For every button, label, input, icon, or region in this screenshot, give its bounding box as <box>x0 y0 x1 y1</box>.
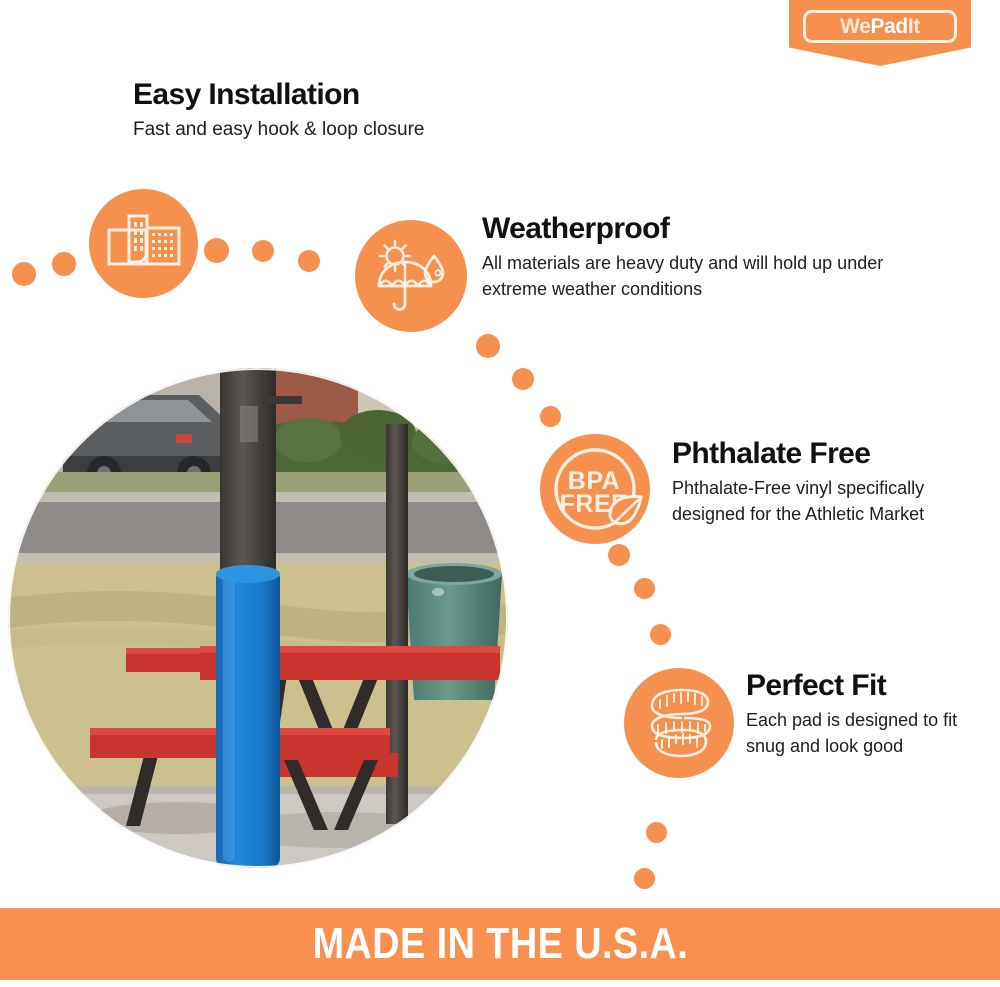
feature-title-perfect-fit: Perfect Fit <box>746 669 986 702</box>
path-dot <box>512 368 534 390</box>
umbrella-sun-rain-icon <box>371 238 451 314</box>
path-dot <box>476 334 500 358</box>
feature-title-weatherproof: Weatherproof <box>482 212 902 245</box>
path-dot <box>634 578 655 599</box>
path-dot <box>298 250 320 272</box>
icon-circle-easy-installation[interactable] <box>89 189 198 298</box>
logo-plate: WePadIt <box>803 10 957 43</box>
path-dot <box>608 544 630 566</box>
feature-body-weatherproof: All materials are heavy duty and will ho… <box>482 251 887 302</box>
bpa-free-leaf-icon: BPA FREE <box>545 439 645 539</box>
path-dot <box>204 238 229 263</box>
icon-circle-perfect-fit[interactable] <box>624 668 734 778</box>
path-dot <box>540 406 561 427</box>
feature-body-easy-installation: Fast and easy hook & loop closure <box>133 117 553 144</box>
feature-weatherproof: Weatherproof All materials are heavy dut… <box>482 212 902 302</box>
feature-easy-installation: Easy Installation Fast and easy hook & l… <box>133 78 553 144</box>
measuring-tape-icon <box>636 680 722 766</box>
product-feature-infographic: WePadIt Easy Installation Fast and easy … <box>0 0 1000 987</box>
product-photo <box>8 368 508 868</box>
logo-text-pad: Pad <box>870 15 907 38</box>
feature-body-phthalate-free: Phthalate-Free vinyl specifically design… <box>672 476 930 527</box>
feature-phthalate-free: Phthalate Free Phthalate-Free vinyl spec… <box>672 437 972 527</box>
path-dot <box>252 240 274 262</box>
feature-title-phthalate-free: Phthalate Free <box>672 437 972 470</box>
path-dot <box>650 624 671 645</box>
feature-body-perfect-fit: Each pad is designed to fit snug and loo… <box>746 708 970 759</box>
icon-circle-phthalate-free[interactable]: BPA FREE <box>540 434 650 544</box>
made-in-usa-text: MADE IN THE U.S.A. <box>312 922 688 966</box>
brand-logo[interactable]: WePadIt <box>789 0 971 66</box>
path-dot <box>646 822 667 843</box>
logo-text-we: We <box>840 15 870 38</box>
path-dot <box>634 868 655 889</box>
path-dot <box>52 252 76 276</box>
logo-text-it: It <box>908 15 920 38</box>
pad-wrap-icon <box>107 214 181 274</box>
icon-circle-weatherproof[interactable] <box>355 220 467 332</box>
pole-pad-scene-illustration <box>8 368 508 868</box>
feature-perfect-fit: Perfect Fit Each pad is designed to fit … <box>746 669 986 759</box>
path-dot <box>12 262 36 286</box>
feature-title-easy-installation: Easy Installation <box>133 78 553 111</box>
made-in-usa-banner: MADE IN THE U.S.A. <box>0 908 1000 980</box>
